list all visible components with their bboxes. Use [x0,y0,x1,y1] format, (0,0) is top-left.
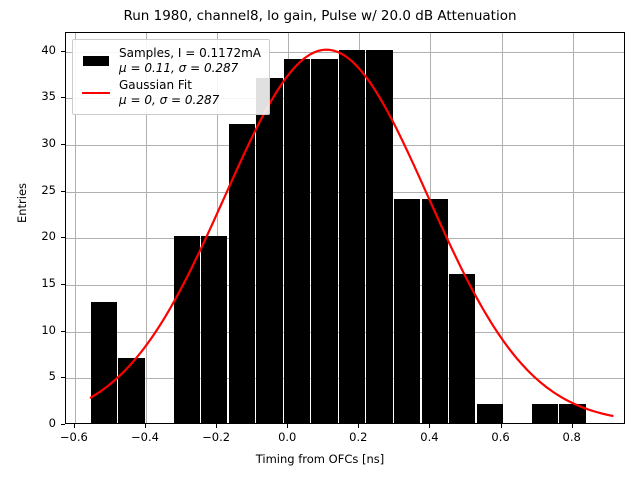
y-tick [61,377,65,378]
x-tick-label: −0.6 [44,430,104,444]
x-tick [145,424,146,428]
y-tick-label: 10 [20,323,56,337]
x-tick-label: 0.4 [399,430,459,444]
y-tick [61,144,65,145]
y-tick [61,237,65,238]
legend-entry-fit[interactable]: Gaussian Fit μ = 0, σ = 0.287 [79,78,261,109]
x-tick [501,424,502,428]
x-tick [216,424,217,428]
x-tick-label: 0.6 [471,430,531,444]
x-tick-label: −0.2 [186,430,246,444]
legend[interactable]: Samples, I = 0.1172mA μ = 0.11, σ = 0.28… [72,39,270,115]
y-tick [61,424,65,425]
y-tick [61,191,65,192]
x-axis-label: Timing from OFCs [ns] [0,452,640,466]
legend-fit-line2: μ = 0, σ = 0.287 [119,93,219,108]
y-tick [61,97,65,98]
x-tick-label: 0.2 [328,430,388,444]
legend-swatch-line-icon [79,92,113,94]
y-tick [61,331,65,332]
x-tick-label: −0.4 [115,430,175,444]
y-tick-label: 0 [20,416,56,430]
x-tick [572,424,573,428]
x-tick [74,424,75,428]
y-tick [61,51,65,52]
y-tick-label: 5 [20,369,56,383]
y-tick-label: 15 [20,276,56,290]
y-axis-label: Entries [15,143,29,263]
y-tick-label: 35 [20,89,56,103]
x-tick-label: 0.8 [542,430,602,444]
legend-samples-line1: Samples, I = 0.1172mA [119,46,261,60]
x-tick [358,424,359,428]
legend-samples-line2: μ = 0.11, σ = 0.287 [119,61,261,76]
legend-label-fit: Gaussian Fit μ = 0, σ = 0.287 [119,78,219,109]
legend-swatch-bar-icon [79,56,113,66]
matplotlib-figure: Run 1980, channel8, lo gain, Pulse w/ 20… [0,0,640,480]
y-tick [61,284,65,285]
x-tick [287,424,288,428]
legend-entry-samples[interactable]: Samples, I = 0.1172mA μ = 0.11, σ = 0.28… [79,46,261,77]
x-tick-label: 0.0 [257,430,317,444]
legend-label-samples: Samples, I = 0.1172mA μ = 0.11, σ = 0.28… [119,46,261,77]
x-tick [429,424,430,428]
page-title: Run 1980, channel8, lo gain, Pulse w/ 20… [0,8,640,24]
legend-fit-line1: Gaussian Fit [119,78,192,92]
y-tick-label: 40 [20,43,56,57]
